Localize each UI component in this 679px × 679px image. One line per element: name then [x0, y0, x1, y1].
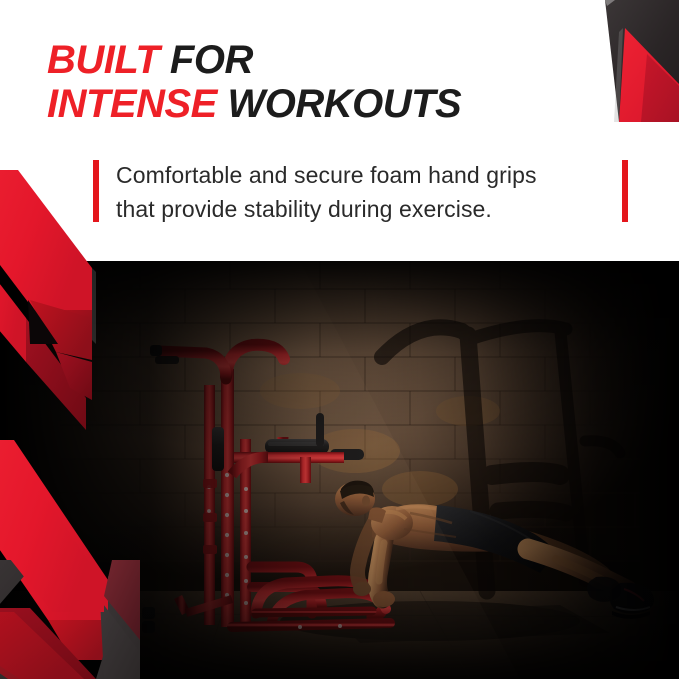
headline-workouts: WORKOUTS — [227, 82, 461, 126]
headline-built: BUILT — [47, 38, 159, 82]
page-title: BUILT FOR INTENSE WORKOUTS — [47, 38, 461, 126]
product-photo — [0, 261, 679, 679]
accent-bar-right — [622, 160, 628, 222]
gym-scene-illustration — [0, 261, 679, 679]
accent-bar-left — [93, 160, 99, 222]
headline-for: FOR — [170, 38, 253, 82]
subheadline-line-1: Comfortable and secure foam hand grips — [116, 158, 606, 192]
subheadline-line-2: that provide stability during exercise. — [116, 192, 606, 226]
text-panel: BUILT FOR INTENSE WORKOUTS Comfortable a… — [0, 0, 679, 261]
headline-intense: INTENSE — [47, 82, 217, 126]
headline-line-2: INTENSE WORKOUTS — [47, 82, 461, 126]
promo-banner: BUILT FOR INTENSE WORKOUTS Comfortable a… — [0, 0, 679, 679]
subheadline-text: Comfortable and secure foam hand grips t… — [116, 158, 606, 226]
headline-line-1: BUILT FOR — [47, 38, 461, 82]
